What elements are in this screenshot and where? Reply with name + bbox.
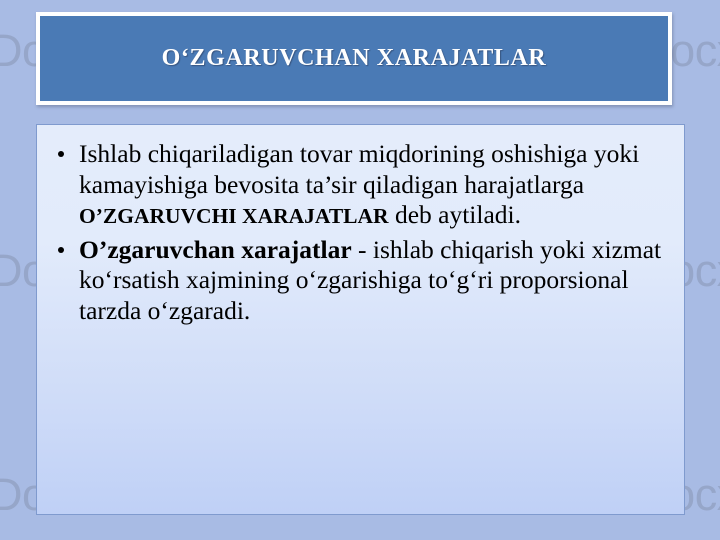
slide-title: O‘ZGARUVCHAN XARAJATLAR: [162, 45, 547, 71]
bullet-dot-icon: [58, 247, 64, 253]
list-item: Ishlab chiqariladigan tovar miqdorining …: [47, 139, 674, 231]
list-item: O’zgaruvchan xarajatlar - ishlab chiqari…: [47, 235, 674, 327]
bullet-list: Ishlab chiqariladigan tovar miqdorining …: [47, 139, 674, 327]
bullet-1-text-part1: Ishlab chiqariladigan tovar miqdorining …: [79, 139, 639, 199]
bullet-1-text-part3: deb aytiladi.: [389, 200, 521, 229]
bullet-2-term-emphasis: O’zgaruvchan xarajatlar: [79, 235, 352, 264]
slide: Docx.uzDocx.uzDocx.uzDocx.uz Docx.uzDocx…: [0, 0, 720, 540]
slide-title-box: O‘ZGARUVCHAN XARAJATLAR: [36, 12, 672, 105]
slide-content-box: Ishlab chiqariladigan tovar miqdorining …: [36, 124, 685, 515]
bullet-1-term-emphasis: O’ZGARUVCHI XARAJATLAR: [79, 204, 389, 228]
bullet-dot-icon: [58, 151, 64, 157]
